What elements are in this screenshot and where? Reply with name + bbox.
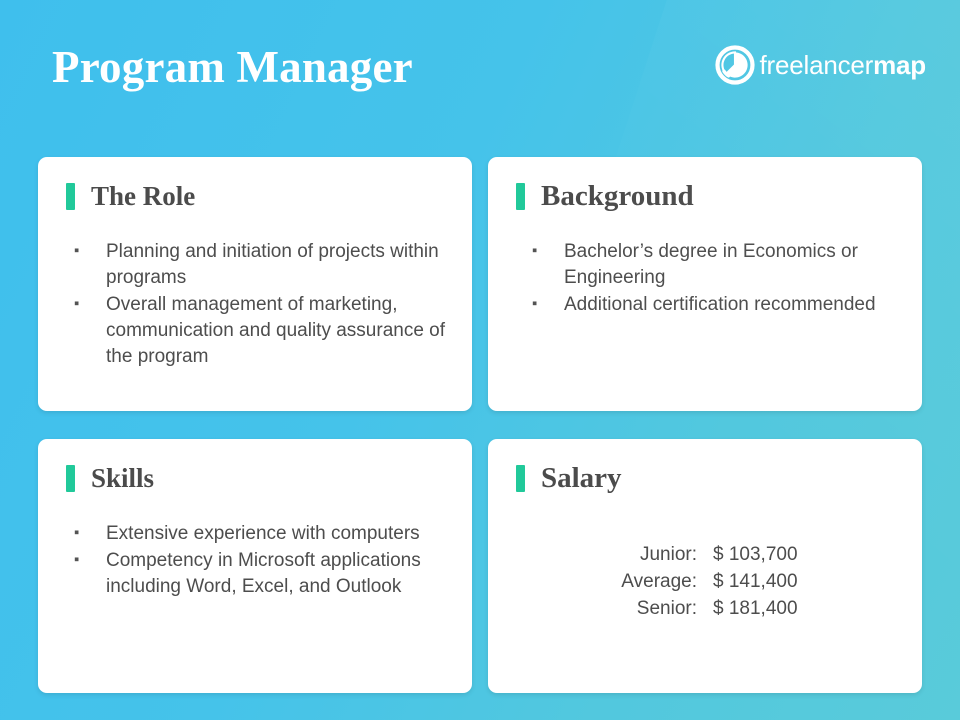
bullet-list-background: Bachelor’s degree in Economics or Engine… [488,211,922,318]
bullet-list-the-role: Planning and initiation of projects with… [38,211,472,370]
card-grid: The Role Planning and initiation of proj… [38,157,922,693]
card-the-role: The Role Planning and initiation of proj… [38,157,472,411]
salary-row-junior: Junior: $ 103,700 [575,541,835,568]
salary-value: $ 103,700 [713,541,835,568]
accent-bar-icon [516,465,525,492]
page-title: Program Manager [52,41,413,93]
salary-row-senior: Senior: $ 181,400 [575,595,835,622]
salary-row-average: Average: $ 141,400 [575,568,835,595]
freelancermap-circle-logo-icon [715,45,755,85]
slide-header: Program Manager freelancermap [0,0,960,140]
brand-logo[interactable]: freelancermap [715,43,927,87]
list-item: Bachelor’s degree in Economics or Engine… [532,239,904,291]
salary-table: Junior: $ 103,700 Average: $ 141,400 Sen… [488,493,922,622]
slide-canvas: Program Manager freelancermap The Role P… [0,0,960,720]
card-title-the-role: The Role [91,181,195,211]
brand-logo-text: freelancermap [760,50,927,80]
salary-value: $ 181,400 [713,595,835,622]
card-header: Skills [38,439,472,493]
card-header: Salary [488,439,922,493]
list-item: Planning and initiation of projects with… [74,239,454,291]
card-background: Background Bachelor’s degree in Economic… [488,157,922,411]
card-salary: Salary Junior: $ 103,700 Average: $ 141,… [488,439,922,693]
list-item: Additional certification recommended [532,292,904,318]
card-title-skills: Skills [91,463,154,493]
salary-label: Average: [575,568,713,595]
list-item: Competency in Microsoft applications inc… [74,548,454,600]
brand-logo-text-bold: map [873,50,926,80]
accent-bar-icon [66,465,75,492]
salary-label: Junior: [575,541,713,568]
card-title-salary: Salary [541,463,622,493]
list-item: Extensive experience with computers [74,521,454,547]
card-header: Background [488,157,922,211]
card-title-background: Background [541,181,694,211]
bullet-list-skills: Extensive experience with computers Comp… [38,493,472,600]
accent-bar-icon [516,183,525,210]
card-skills: Skills Extensive experience with compute… [38,439,472,693]
list-item: Overall management of marketing, communi… [74,292,454,370]
brand-logo-text-light: freelancer [760,50,874,80]
salary-value: $ 141,400 [713,568,835,595]
card-header: The Role [38,157,472,211]
accent-bar-icon [66,183,75,210]
salary-label: Senior: [575,595,713,622]
